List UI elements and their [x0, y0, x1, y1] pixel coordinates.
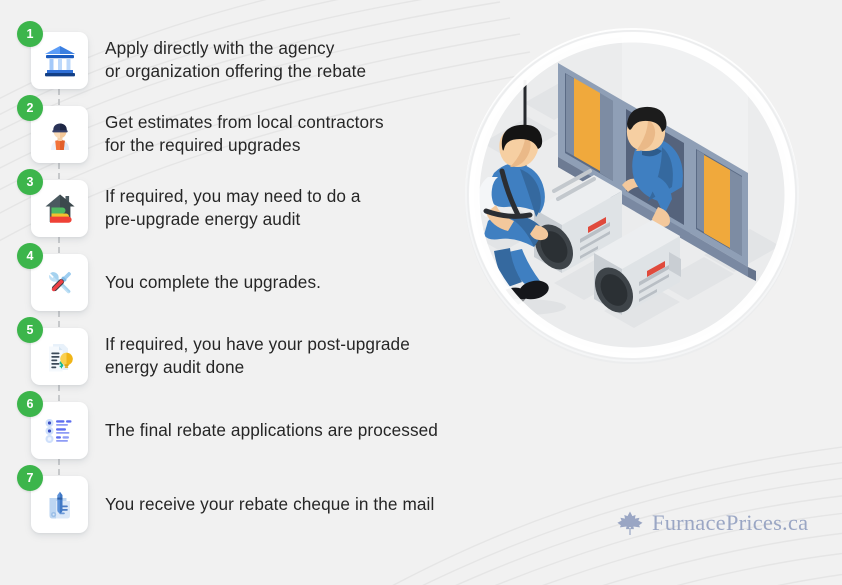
cheque-pen-icon [41, 486, 79, 524]
step-item-5[interactable]: 5 If required, you have your post-upgrad… [0, 328, 470, 402]
step-text-4: You complete the upgrades. [105, 271, 465, 294]
step-item-6[interactable]: 6 The final rebate applications are proc… [0, 402, 470, 476]
maple-leaf-icon [615, 508, 645, 538]
infographic-canvas: 1 Apply directly with the agency or orga… [0, 0, 842, 585]
illustration-container [462, 25, 802, 370]
step-badge-3: 3 [17, 169, 43, 195]
step-text-5: If required, you have your post-upgrade … [105, 333, 465, 379]
step-text-3: If required, you may need to do a pre-up… [105, 185, 465, 231]
isometric-ac-installation-illustration [462, 25, 802, 370]
step-text-7: You receive your rebate cheque in the ma… [105, 493, 465, 516]
bank-building-icon [41, 42, 79, 80]
step-text-6: The final rebate applications are proces… [105, 419, 465, 442]
step-item-3[interactable]: 3 If required, you may need to do a pre-… [0, 180, 470, 254]
step-item-7[interactable]: 7 You receive your rebate cheque in the … [0, 476, 470, 550]
energy-report-lightbulb-icon [41, 338, 79, 376]
logo-text: FurnacePrices.ca [652, 510, 808, 536]
step-text-1: Apply directly with the agency or organi… [105, 37, 465, 83]
step-badge-5: 5 [17, 317, 43, 343]
step-item-1[interactable]: 1 Apply directly with the agency or orga… [0, 32, 470, 106]
step-item-4[interactable]: 4 You complete the upgrades. [0, 254, 470, 328]
site-logo[interactable]: FurnacePrices.ca [615, 508, 808, 538]
step-text-2: Get estimates from local contractors for… [105, 111, 465, 157]
step-badge-2: 2 [17, 95, 43, 121]
contractor-worker-icon [41, 116, 79, 154]
step-item-2[interactable]: 2 Get estimates from local contractors f… [0, 106, 470, 180]
step-badge-4: 4 [17, 243, 43, 269]
checklist-applications-icon [41, 412, 79, 450]
step-badge-7: 7 [17, 465, 43, 491]
house-energy-rating-icon [41, 190, 79, 228]
step-badge-6: 6 [17, 391, 43, 417]
tools-wrench-screwdriver-icon [41, 264, 79, 302]
steps-list: 1 Apply directly with the agency or orga… [0, 0, 470, 585]
step-badge-1: 1 [17, 21, 43, 47]
